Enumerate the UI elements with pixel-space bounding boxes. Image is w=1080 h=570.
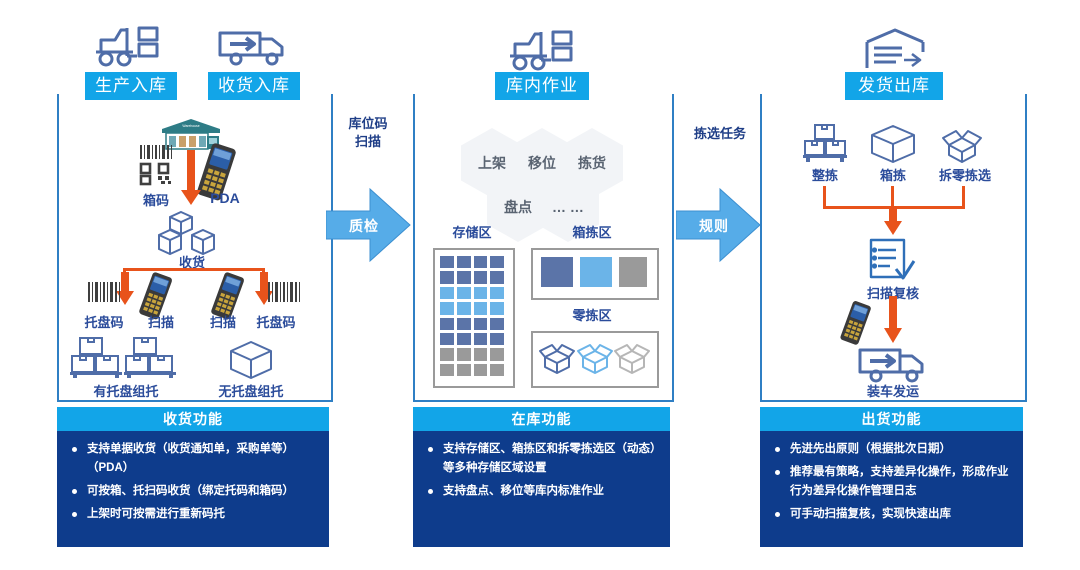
storage-cell: [474, 256, 488, 268]
delivery-truck-icon: [216, 25, 288, 67]
caption-box-code: 箱码: [126, 190, 186, 209]
branch-horizontal: [123, 268, 265, 271]
piece-pick-icon: [936, 124, 988, 164]
arrow-down-to-check: [884, 206, 902, 236]
list-item: 先进先出原则（根据批次日期）: [770, 440, 1013, 459]
storage-cell: [457, 302, 471, 314]
caption-case-pick-zone: 箱拣区: [551, 222, 633, 241]
storage-cell: [490, 302, 504, 314]
storage-cell: [490, 333, 504, 345]
storage-cell: [474, 318, 488, 330]
list-item: 支持存储区、箱拣区和拆零拣选区（动态）等多种存储区域设置: [423, 440, 660, 478]
storage-cell: [490, 287, 504, 299]
storage-cell: [440, 256, 454, 268]
storage-cell: [474, 333, 488, 345]
footer-bullets-outbound: 先进先出原则（根据批次日期） 推荐最有策略，支持差异化操作，形成作业行为差异化操…: [760, 431, 1023, 524]
storage-cell: [474, 287, 488, 299]
caption-piece-pick-zone: 零拣区: [551, 305, 633, 324]
storage-cell: [474, 364, 488, 376]
caption-with-pallet: 有托盘组托: [76, 381, 176, 400]
arrow-down-to-shipping: [884, 296, 902, 344]
checklist-icon: [866, 237, 916, 283]
connector-label-location-scan: 库位码 扫描: [330, 115, 406, 151]
svg-text:Warehouse: Warehouse: [182, 124, 199, 128]
pallet-pick-icon: [801, 124, 849, 162]
caption-pallet-code-right: 托盘码: [248, 312, 304, 331]
shipping-truck-icon: [856, 342, 928, 384]
storage-cell: [457, 256, 471, 268]
caption-load-and-ship: 装车发运: [855, 381, 931, 400]
footer-in-warehouse: 在库功能 支持存储区、箱拣区和拆零拣选区（动态）等多种存储区域设置 支持盘点、移…: [413, 407, 670, 547]
footer-heading-outbound: 出货功能: [760, 407, 1023, 431]
barcode-qr-icon: [139, 145, 173, 185]
case-pick-icon: [868, 124, 918, 164]
storage-cell: [457, 333, 471, 345]
case-swatch-1: [580, 257, 612, 287]
barcode-icon-right: [268, 282, 300, 302]
storage-cell: [457, 348, 471, 360]
footer-bullets-inbound: 支持单据收货（收货通知单，采购单等）（PDA） 可按箱、托扫码收货（绑定托码和箱…: [57, 431, 329, 524]
connector-arrow-label-quality-check: 质检: [340, 216, 388, 236]
diagram-canvas: 生产入库 收货入库 Warehouse: [0, 0, 1080, 570]
merge-mid-vert: [891, 186, 894, 208]
storage-cell: [440, 302, 454, 314]
footer-outbound: 出货功能 先进先出原则（根据批次日期） 推荐最有策略，支持差异化操作，形成作业行…: [760, 407, 1023, 547]
storage-cell: [474, 302, 488, 314]
caption-piece-pick: 拆零拣选: [928, 165, 1002, 184]
connector-label-line1: 拣选任务: [672, 125, 768, 143]
connector-arrow-label-rule: 规则: [690, 216, 738, 236]
list-item: 支持盘点、移位等库内标准作业: [423, 482, 660, 501]
warehouse-out-icon: [864, 28, 926, 72]
piece-pick-open-box-1: [576, 338, 614, 376]
list-item: 可按箱、托扫码收货（绑定托码和箱码）: [67, 482, 319, 501]
merge-right-vert: [962, 186, 965, 208]
panel-title-receiving-inbound: 收货入库: [208, 72, 300, 100]
piece-pick-open-box-0: [538, 338, 576, 376]
storage-cell: [440, 333, 454, 345]
connector-label-line1: 库位码: [330, 115, 406, 133]
barcode-icon-left: [88, 282, 120, 302]
storage-cell: [490, 271, 504, 283]
storage-cell: [440, 287, 454, 299]
piece-pick-open-box-2: [613, 338, 651, 376]
storage-cell: [490, 256, 504, 268]
list-item: 支持单据收货（收货通知单，采购单等）（PDA）: [67, 440, 319, 478]
forklift-icon: [93, 22, 161, 68]
forklift-icon: [507, 26, 575, 72]
list-item: 推荐最有策略，支持差异化操作，形成作业行为差异化操作管理日志: [770, 463, 1013, 501]
footer-bullets-in-warehouse: 支持存储区、箱拣区和拆零拣选区（动态）等多种存储区域设置 支持盘点、移位等库内标…: [413, 431, 670, 501]
storage-cell: [457, 287, 471, 299]
caption-case-pick: 箱拣: [863, 165, 923, 184]
arrow-down-to-receiving: [180, 150, 202, 206]
storage-cell: [457, 364, 471, 376]
storage-grid: [440, 256, 504, 376]
footer-heading-in-warehouse: 在库功能: [413, 407, 670, 431]
caption-pallet-code-left: 托盘码: [76, 312, 132, 331]
storage-cell: [440, 318, 454, 330]
case-swatch-0: [541, 257, 573, 287]
case-swatch-2: [619, 257, 647, 287]
connector-label-line2: 扫描: [330, 133, 406, 151]
footer-inbound: 收货功能 支持单据收货（收货通知单，采购单等）（PDA） 可按箱、托扫码收货（绑…: [57, 407, 329, 547]
boxes-stack-icon: [159, 210, 225, 254]
footer-heading-inbound: 收货功能: [57, 407, 329, 431]
pallet-stack-icon: [72, 336, 180, 378]
caption-full-pallet-pick: 整拣: [795, 165, 855, 184]
merge-left-vert: [823, 186, 826, 208]
panel-title-outbound: 发货出库: [845, 72, 943, 100]
storage-cell: [440, 271, 454, 283]
caption-scan-left: 扫描: [138, 312, 184, 331]
storage-cell: [474, 348, 488, 360]
panel-title-production-inbound: 生产入库: [85, 72, 177, 100]
storage-cell: [490, 318, 504, 330]
storage-cell: [490, 364, 504, 376]
storage-cell: [457, 318, 471, 330]
storage-cell: [457, 271, 471, 283]
caption-scan-right: 扫描: [200, 312, 246, 331]
caption-without-pallet: 无托盘组托: [201, 381, 301, 400]
list-item: 可手动扫描复核，实现快速出库: [770, 505, 1013, 524]
list-item: 上架时可按需进行重新码托: [67, 505, 319, 524]
storage-cell: [490, 348, 504, 360]
storage-cell: [474, 271, 488, 283]
caption-storage-zone: 存储区: [431, 222, 513, 241]
storage-cell: [440, 348, 454, 360]
connector-label-pick-task: 拣选任务: [672, 125, 768, 143]
caption-pda: PDA: [200, 190, 250, 206]
single-box-icon: [228, 340, 274, 380]
panel-title-in-warehouse: 库内作业: [495, 72, 589, 100]
storage-cell: [440, 364, 454, 376]
